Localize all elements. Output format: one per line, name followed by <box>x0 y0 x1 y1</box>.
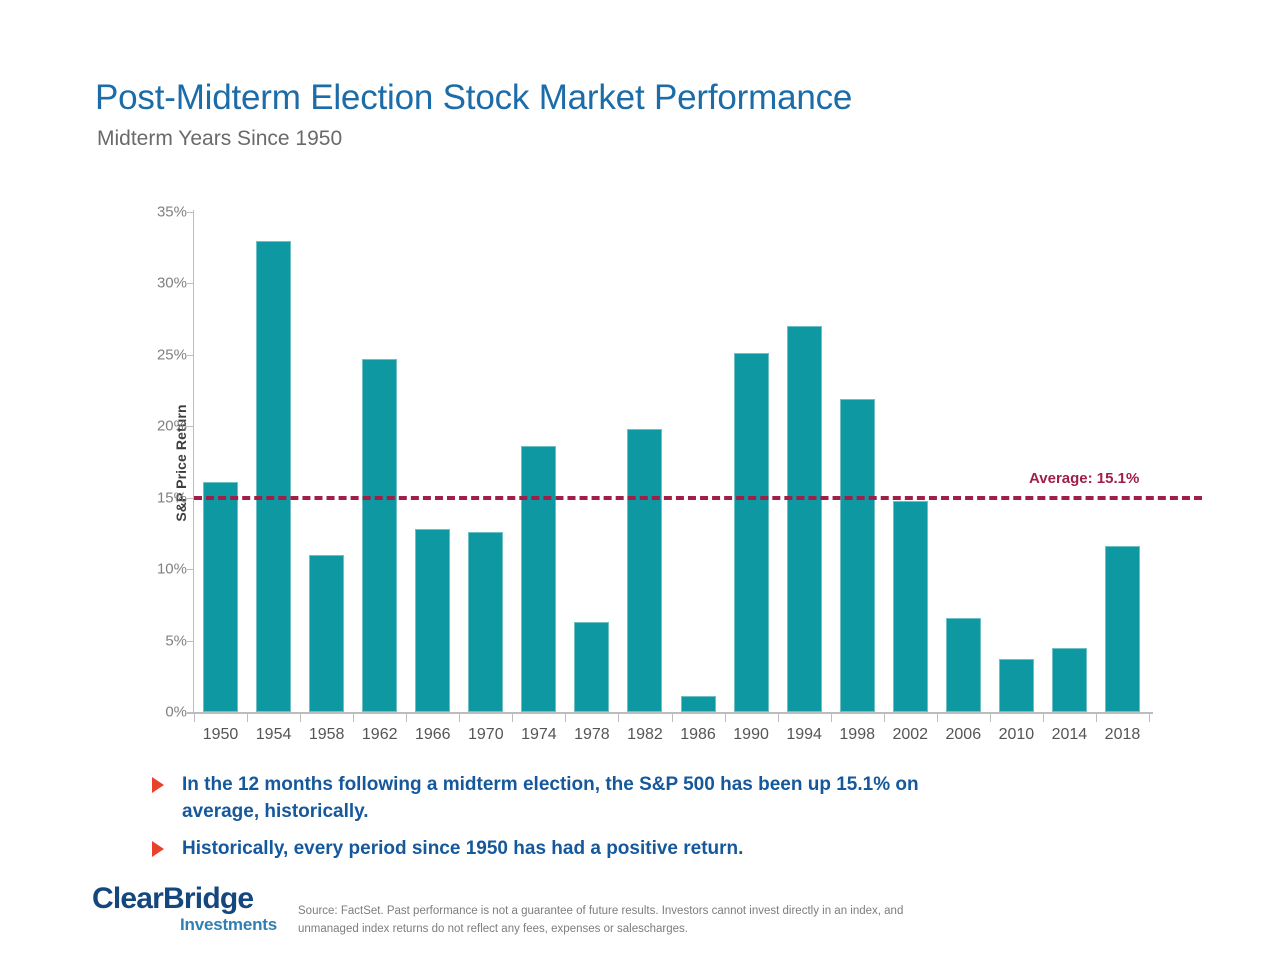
bar-1982 <box>627 429 662 712</box>
source-disclaimer: Source: FactSet. Past performance is not… <box>298 903 948 939</box>
x-axis-tick-label: 2006 <box>946 726 982 744</box>
x-axis-tick-label: 2018 <box>1105 726 1141 744</box>
bar-1986 <box>681 696 716 712</box>
bar-chart: S&P Price Return 0%5%10%15%20%25%30%35% … <box>95 195 1165 755</box>
x-axis-tick-label: 1974 <box>521 726 557 744</box>
x-axis-tick-mark <box>565 714 566 722</box>
x-axis-tick-label: 1958 <box>309 726 345 744</box>
x-axis-tick-label: 1950 <box>203 726 239 744</box>
x-axis-tick-mark <box>512 714 513 722</box>
y-axis-tick-mark <box>187 212 194 213</box>
x-axis-tick-mark <box>1149 714 1150 722</box>
x-axis-tick-marks <box>194 714 1149 722</box>
y-axis-tick-label: 0% <box>135 704 187 721</box>
bar-1966 <box>415 529 450 712</box>
bullet-text: Historically, every period since 1950 ha… <box>182 836 743 863</box>
x-axis-tick-labels: 1950195419581962196619701974197819821986… <box>194 726 1149 756</box>
x-axis-tick-mark <box>618 714 619 722</box>
page-title: Post-Midterm Election Stock Market Perfo… <box>95 78 852 118</box>
y-axis-tick-mark <box>187 712 194 713</box>
x-axis-tick-mark <box>353 714 354 722</box>
x-axis-tick-mark <box>672 714 673 722</box>
plot-area <box>194 212 1149 712</box>
bar-2010 <box>999 659 1034 712</box>
x-axis-tick-label: 1954 <box>256 726 292 744</box>
y-axis-tick-label: 25% <box>135 346 187 363</box>
y-axis-tick-labels: 0%5%10%15%20%25%30%35% <box>135 195 187 755</box>
bar-1950 <box>203 482 238 712</box>
y-axis-tick-label: 30% <box>135 275 187 292</box>
y-axis-tick-mark <box>187 498 194 499</box>
x-axis-tick-label: 1994 <box>786 726 822 744</box>
x-axis-tick-mark <box>194 714 195 722</box>
x-axis-tick-mark <box>459 714 460 722</box>
x-axis-tick-mark <box>725 714 726 722</box>
y-axis-tick-label: 5% <box>135 632 187 649</box>
x-axis-tick-mark <box>300 714 301 722</box>
y-axis-tick-label: 35% <box>135 204 187 221</box>
average-reference-line <box>194 496 1202 500</box>
logo-secondary-text: Investments <box>92 916 277 933</box>
x-axis-tick-label: 1986 <box>680 726 716 744</box>
x-axis-tick-mark <box>990 714 991 722</box>
x-axis-tick-mark <box>406 714 407 722</box>
x-axis-tick-label: 1978 <box>574 726 610 744</box>
x-axis-tick-mark <box>247 714 248 722</box>
x-axis-tick-mark <box>831 714 832 722</box>
bar-2002 <box>893 501 928 712</box>
bar-2018 <box>1105 546 1140 712</box>
bullet-item: Historically, every period since 1950 ha… <box>152 836 1092 863</box>
bar-1954 <box>256 241 291 712</box>
x-axis-tick-mark <box>1043 714 1044 722</box>
page-subtitle: Midterm Years Since 1950 <box>97 127 342 151</box>
bullet-text: In the 12 months following a midterm ele… <box>182 772 927 826</box>
x-axis-tick-label: 1990 <box>733 726 769 744</box>
x-axis-tick-mark <box>937 714 938 722</box>
y-axis-tick-mark <box>187 569 194 570</box>
bar-1958 <box>309 555 344 712</box>
bar-1974 <box>521 446 556 712</box>
x-axis-tick-label: 1982 <box>627 726 663 744</box>
y-axis-tick-label: 15% <box>135 489 187 506</box>
y-axis-tick-label: 20% <box>135 418 187 435</box>
bullet-item: In the 12 months following a midterm ele… <box>152 772 1092 826</box>
logo-primary-text: ClearBridge <box>92 884 277 914</box>
y-axis-tick-label: 10% <box>135 561 187 578</box>
x-axis-tick-label: 1998 <box>839 726 875 744</box>
x-axis-tick-label: 1966 <box>415 726 451 744</box>
bar-1962 <box>362 359 397 712</box>
bullet-list: In the 12 months following a midterm ele… <box>152 772 1092 873</box>
x-axis-tick-mark <box>884 714 885 722</box>
triangle-bullet-icon <box>152 841 164 857</box>
bar-1970 <box>468 532 503 712</box>
y-axis-tick-mark <box>187 355 194 356</box>
average-line-label: Average: 15.1% <box>1029 470 1139 487</box>
x-axis-tick-label: 2002 <box>892 726 928 744</box>
triangle-bullet-icon <box>152 777 164 793</box>
x-axis-tick-mark <box>778 714 779 722</box>
y-axis-tick-mark <box>187 283 194 284</box>
y-axis-tick-mark <box>187 426 194 427</box>
y-axis-tick-mark <box>187 641 194 642</box>
bar-1998 <box>840 399 875 712</box>
x-axis-tick-label: 1962 <box>362 726 398 744</box>
bar-1994 <box>787 326 822 712</box>
bar-1990 <box>734 353 769 712</box>
x-axis-tick-label: 2014 <box>1052 726 1088 744</box>
x-axis-tick-label: 1970 <box>468 726 504 744</box>
bar-2014 <box>1052 648 1087 712</box>
bar-1978 <box>574 622 609 712</box>
bar-2006 <box>946 618 981 712</box>
clearbridge-logo: ClearBridge Investments <box>92 884 277 933</box>
x-axis-tick-label: 2010 <box>999 726 1035 744</box>
x-axis-tick-mark <box>1096 714 1097 722</box>
